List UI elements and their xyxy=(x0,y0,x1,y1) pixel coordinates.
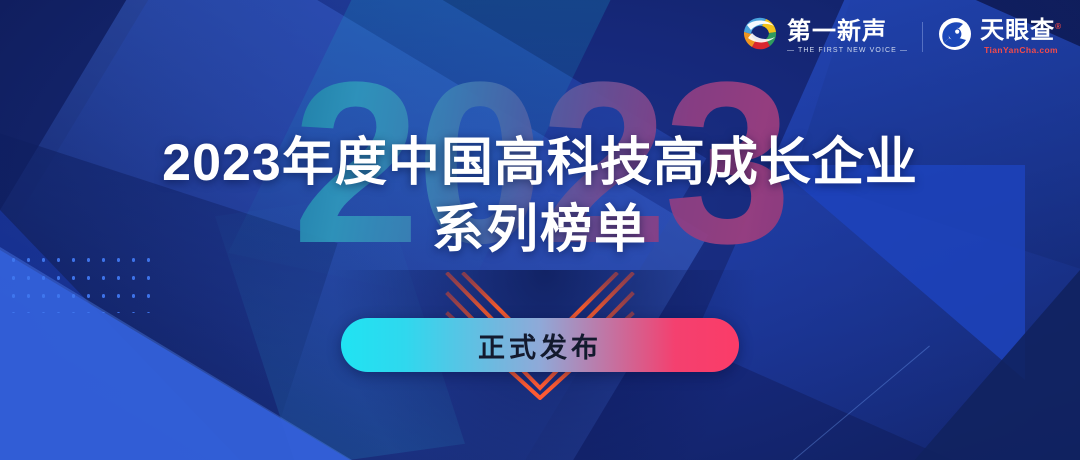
tianyancha-logo-name: 天眼查® xyxy=(980,18,1062,43)
bg-facet-right-triangle-2 xyxy=(880,270,1080,460)
banner-title: 2023年度中国高科技高成长企业 系列榜单 xyxy=(0,136,1080,257)
release-status-badge[interactable]: 正式发布 xyxy=(341,318,739,372)
logo-separator xyxy=(922,22,923,52)
logo-diyixinsheng[interactable]: 第一新声 — THE FIRST NEW VOICE — xyxy=(740,14,908,59)
tianyancha-logo-name-cn: 天眼查 xyxy=(980,17,1055,44)
decorative-dot-grid xyxy=(4,249,150,313)
dyxs-logo-tagline: — THE FIRST NEW VOICE — xyxy=(787,47,908,54)
tianyancha-eye-icon xyxy=(937,16,973,57)
tianyancha-logo-tagline: TianYanCha.com xyxy=(980,45,1062,55)
promo-banner: 2023 2023年度中国高科技高成长企业 系列榜单 正式发布 xyxy=(0,0,1080,460)
dyxs-logo-name: 第一新声 xyxy=(787,19,908,44)
logo-tianyancha[interactable]: 天眼查® TianYanCha.com xyxy=(937,16,1062,57)
dyxs-logo-text: 第一新声 — THE FIRST NEW VOICE — xyxy=(787,19,908,53)
bg-facet-right-hairline xyxy=(730,346,930,460)
tianyancha-logo-text: 天眼查® TianYanCha.com xyxy=(980,18,1062,54)
banner-title-line-2: 系列榜单 xyxy=(0,203,1080,258)
banner-title-line-1: 2023年度中国高科技高成长企业 xyxy=(0,136,1080,191)
logo-bar: 第一新声 — THE FIRST NEW VOICE — 天眼查® TianYa… xyxy=(740,14,1062,59)
dyxs-swirl-icon xyxy=(740,14,780,59)
release-status-badge-label: 正式发布 xyxy=(478,326,602,365)
trademark-symbol: ® xyxy=(1055,22,1062,31)
